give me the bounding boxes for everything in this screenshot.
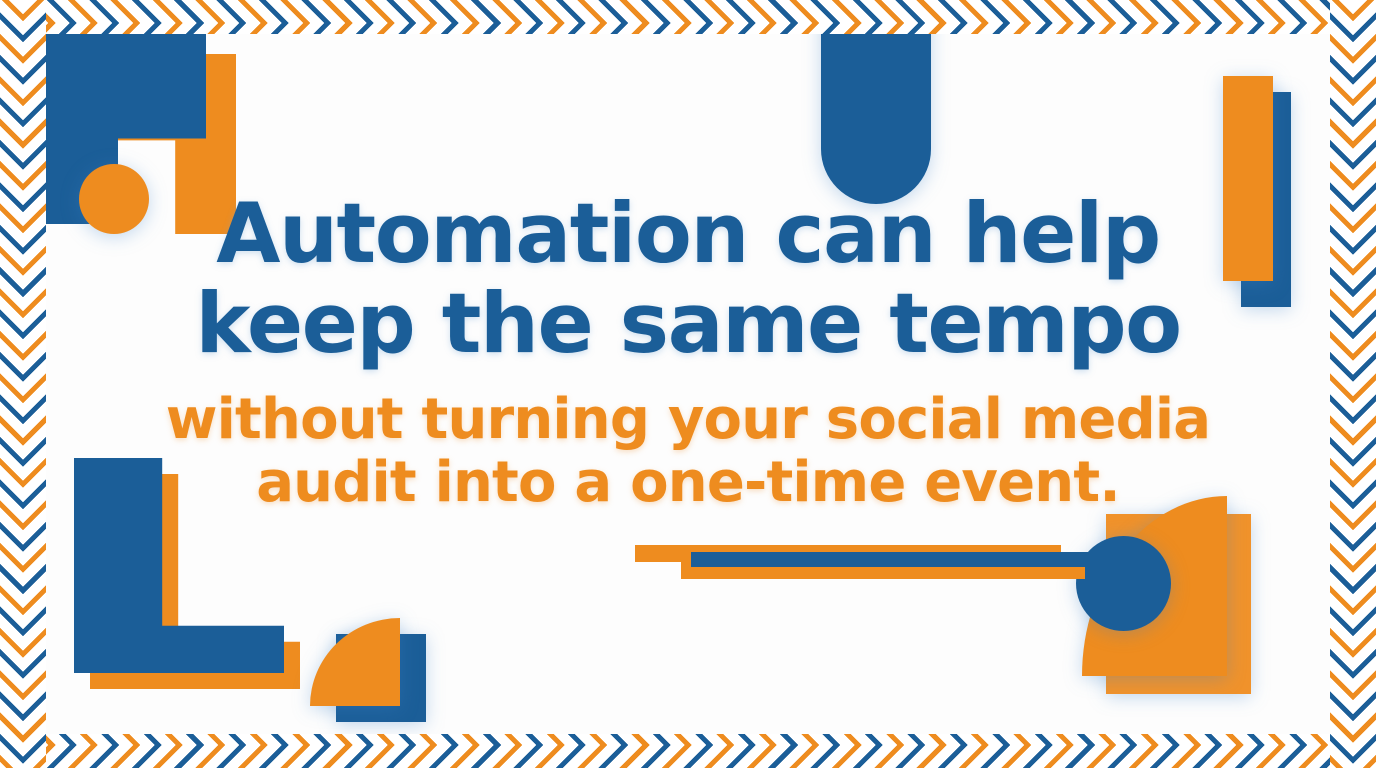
bottom-right-blue-circle-shape [1076, 536, 1171, 631]
border-left [0, 0, 46, 768]
subheadline-line-2: audit into a one-time event. [46, 452, 1330, 515]
subheadline-line-1: without turning your social media [46, 389, 1330, 452]
headline-line-2: keep the same tempo [46, 279, 1330, 369]
headline-line-1: Automation can help [46, 189, 1330, 279]
subheadline: without turning your social media audit … [46, 389, 1330, 514]
headline: Automation can help keep the same tempo [46, 189, 1330, 368]
underline-blue-rule [691, 552, 1088, 567]
top-center-blue-pill-shape [821, 34, 931, 204]
poster-canvas: Automation can help keep the same tempo … [0, 0, 1376, 768]
border-right [1330, 0, 1376, 768]
content-area: Automation can help keep the same tempo … [46, 34, 1330, 734]
bottom-center-orange-quarter-circle-shape [310, 618, 400, 706]
